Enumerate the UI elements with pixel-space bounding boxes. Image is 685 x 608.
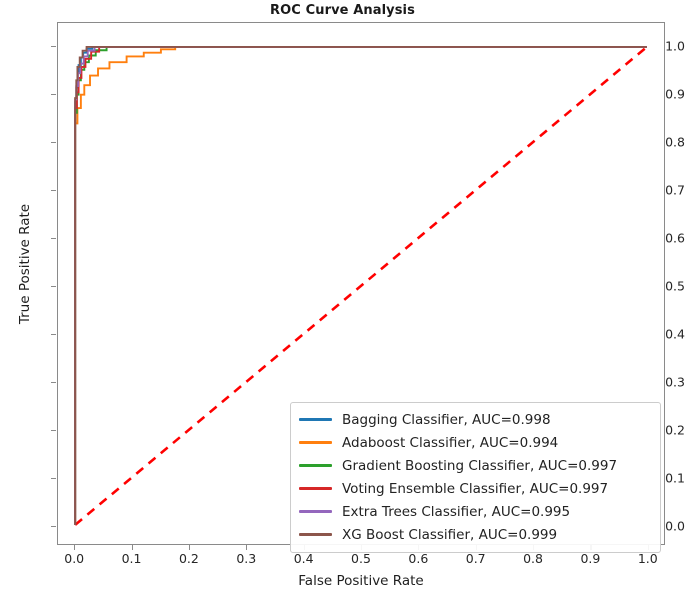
x-tick-label: 0.0 xyxy=(52,551,96,566)
legend-item-label: Voting Ensemble Classifier, AUC=0.997 xyxy=(342,481,608,497)
legend: Bagging Classifier, AUC=0.998Adaboost Cl… xyxy=(290,402,661,553)
legend-item-label: Bagging Classifier, AUC=0.998 xyxy=(342,412,551,428)
y-tick-mark xyxy=(51,190,56,191)
y-tick-mark xyxy=(51,334,56,335)
y-tick-mark xyxy=(51,478,56,479)
x-tick-label: 0.9 xyxy=(568,551,612,566)
x-axis-label: False Positive Rate xyxy=(57,573,665,589)
roc-curve-figure: ROC Curve Analysis 0.00.10.20.30.40.50.6… xyxy=(0,0,685,608)
legend-item[interactable]: Voting Ensemble Classifier, AUC=0.997 xyxy=(299,477,652,500)
y-tick-mark xyxy=(51,46,56,47)
legend-item[interactable]: Bagging Classifier, AUC=0.998 xyxy=(299,408,652,431)
x-tick-label: 0.1 xyxy=(110,551,154,566)
y-tick-mark xyxy=(51,526,56,527)
y-tick-mark xyxy=(51,382,56,383)
x-tick-mark xyxy=(246,545,247,550)
x-tick-mark xyxy=(189,545,190,550)
x-tick-label: 0.2 xyxy=(167,551,211,566)
legend-color-swatch xyxy=(299,418,332,421)
x-tick-label: 0.8 xyxy=(511,551,555,566)
chart-title: ROC Curve Analysis xyxy=(0,3,685,18)
legend-color-swatch xyxy=(299,533,332,536)
legend-color-swatch xyxy=(299,510,332,513)
legend-item[interactable]: Gradient Boosting Classifier, AUC=0.997 xyxy=(299,454,652,477)
legend-item-label: Extra Trees Classifier, AUC=0.995 xyxy=(342,504,570,520)
x-tick-mark xyxy=(74,545,75,550)
legend-item-label: Gradient Boosting Classifier, AUC=0.997 xyxy=(342,458,617,474)
y-tick-mark xyxy=(51,430,56,431)
legend-item-label: XG Boost Classifier, AUC=0.999 xyxy=(342,527,557,543)
x-tick-mark xyxy=(132,545,133,550)
x-tick-label: 0.6 xyxy=(396,551,440,566)
x-tick-label: 0.7 xyxy=(454,551,498,566)
y-tick-mark xyxy=(51,286,56,287)
y-tick-mark xyxy=(51,142,56,143)
x-tick-label: 0.4 xyxy=(282,551,326,566)
y-axis-label: True Positive Rate xyxy=(17,134,33,394)
legend-color-swatch xyxy=(299,441,332,444)
x-tick-label: 0.5 xyxy=(339,551,383,566)
legend-item-label: Adaboost Classifier, AUC=0.994 xyxy=(342,435,558,451)
legend-color-swatch xyxy=(299,487,332,490)
legend-item[interactable]: Extra Trees Classifier, AUC=0.995 xyxy=(299,500,652,523)
y-tick-mark xyxy=(51,238,56,239)
legend-item[interactable]: XG Boost Classifier, AUC=0.999 xyxy=(299,523,652,546)
y-tick-mark xyxy=(51,94,56,95)
x-tick-label: 1.0 xyxy=(626,551,670,566)
legend-color-swatch xyxy=(299,464,332,467)
legend-item[interactable]: Adaboost Classifier, AUC=0.994 xyxy=(299,431,652,454)
x-tick-label: 0.3 xyxy=(224,551,268,566)
